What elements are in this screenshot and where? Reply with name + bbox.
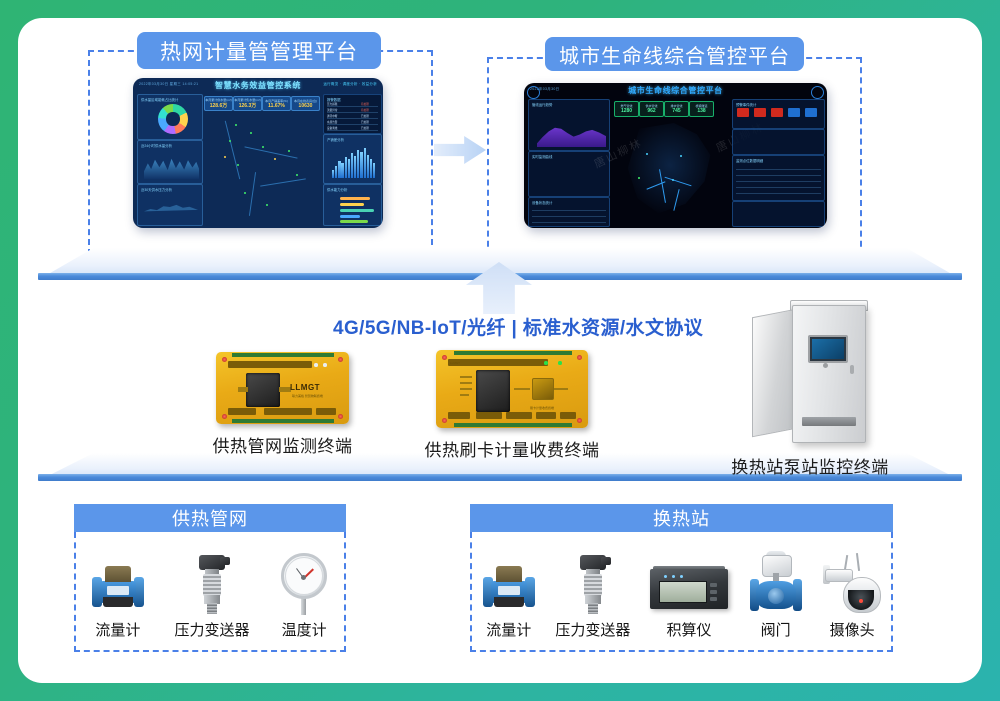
cabinet-hmi-screen	[808, 335, 848, 363]
kpi-value: 962	[647, 108, 655, 114]
dashboard-panel-detail-table: 监测点位数据明细	[732, 155, 825, 201]
device-label: 压力变送器	[555, 619, 630, 640]
kpi-tile: 桥梁隧道 138	[689, 101, 714, 117]
terminal-pipeline-monitor[interactable]: LLMGT 联力美格 智慧物联终端 供热管网监测终端	[195, 352, 370, 457]
panel-title: 近24小时供水量分析	[141, 143, 172, 148]
kpi-value: 138	[697, 108, 705, 114]
terminal-card-billing[interactable]: LLMGT 刷卡计量收费终端 供热刷卡计量收费终端	[412, 350, 612, 461]
kpi-value: 745	[672, 108, 680, 114]
alert-tile	[788, 108, 800, 117]
pressure-transmitter-icon	[192, 551, 232, 615]
device-label: 压力变送器	[174, 619, 249, 640]
kpi-value: 10630	[299, 103, 313, 109]
table-cell: 待处理	[361, 108, 369, 112]
group-title: 换热站	[470, 504, 893, 532]
kpi-value: 11.67%	[268, 103, 285, 109]
device-label: 温度计	[282, 619, 327, 640]
integrator-icon	[650, 551, 728, 615]
table-cell: 水质告警	[327, 120, 337, 124]
alert-tile	[737, 108, 749, 117]
kpi-value: 1280	[621, 108, 632, 114]
dashboard-panel-strip	[732, 129, 825, 155]
thermometer-gauge-icon	[279, 551, 329, 615]
flow-meter-icon	[91, 551, 145, 615]
kpi-tile: 本月累计供水量(m³) 128.6万	[204, 96, 233, 111]
panel-title: 供水能力分析	[327, 187, 347, 192]
device-camera[interactable]: 摄像头	[823, 551, 881, 640]
kpi-tile: 供水管线 962	[639, 101, 664, 117]
map-region	[622, 123, 718, 217]
platform-title-heat-network[interactable]: 热网计量管管理平台	[137, 32, 381, 69]
architecture-diagram: 热网计量管管理平台 城市生命线综合管控平台 智慧水务效益管控系统 2022年03…	[0, 0, 1000, 701]
device-brand: LLMGT	[450, 361, 460, 365]
line-series	[537, 166, 606, 189]
group-device-list: 流量计 压力变送器 温度计	[74, 532, 346, 652]
dashboard-city-lifeline[interactable]: 城市生命线综合管控平台 2022年03月30日 管线运行趋势 实时监测曲线 设备…	[524, 83, 827, 228]
kpi-tile: 本月累计售水量(m³) 126.3万	[233, 96, 262, 111]
table-cell: 压力超限	[327, 102, 337, 106]
device-valve[interactable]: 阀门	[748, 551, 804, 640]
dashboard-title: 智慧水务效益管控系统	[215, 80, 301, 91]
device-brand-sub: 刷卡计量收费终端	[530, 406, 554, 410]
kpi-value: 126.3万	[239, 102, 257, 109]
dashboard-panel-table: 设备状态统计	[528, 197, 610, 227]
kpi-tile: 燃气管线 1280	[614, 101, 639, 117]
dashboard-map	[616, 119, 726, 225]
dashboard-panel-donut: 供水量区域能耗占比统计	[137, 94, 203, 140]
dashboard-heat-network[interactable]: 智慧水务效益管控系统 2022年03月30日 星期三 14:05:21 运行概览…	[133, 78, 383, 228]
panel-title: 设备状态统计	[532, 200, 552, 205]
device-integrator[interactable]: 积算仪	[650, 551, 728, 640]
dashboard-header-nav: 运行概览 · 调度分析 · 效益分析	[323, 82, 377, 87]
table-cell: 设备离线	[327, 126, 337, 130]
alert-tile	[754, 108, 766, 117]
terminal-label: 供热刷卡计量收费终端	[412, 436, 612, 461]
panel-title: 预警事件统计	[736, 102, 756, 107]
dashboard-panel-footer	[732, 201, 825, 227]
cabinet-button	[823, 363, 828, 368]
table-cell: 通讯中断	[327, 114, 337, 118]
camera-icon	[823, 551, 881, 615]
device-label: 积算仪	[666, 619, 711, 640]
device-flow-meter[interactable]: 流量计	[482, 551, 536, 640]
terminal-station-cabinet[interactable]: 换热站泵站监控终端	[720, 305, 900, 478]
device-flow-meter[interactable]: 流量计	[91, 551, 145, 640]
kpi-tile: 本月产销差率(%) 11.67%	[262, 96, 291, 111]
kpi-tile: 排水管线 745	[664, 101, 689, 117]
alert-tile	[771, 108, 783, 117]
dashboard-panel-alarm-table: 报警数据 压力超限 待处理 流量异常 待处理 通讯中断 已处理 水质告警 已处理…	[323, 94, 382, 134]
cabinet-vent	[802, 417, 856, 426]
dashboard-panel-bar: 产销差分析	[323, 134, 382, 184]
line-series	[144, 201, 198, 214]
device-pressure-transmitter[interactable]: 压力变送器	[555, 551, 630, 640]
panel-title: 管线运行趋势	[532, 102, 552, 107]
pcb-card-reader-icon: LLMGT 刷卡计量收费终端	[436, 350, 588, 428]
card-slot	[532, 378, 554, 400]
table-cell: 已处理	[361, 114, 369, 118]
cabinet-open-door	[752, 309, 796, 438]
protocol-label: 4G/5G/NB-IoT/光纤 | 标准水资源/水文协议	[333, 313, 703, 340]
dashboard-panel-area: 近24小时供水量分析	[137, 140, 203, 184]
dashboard-title: 城市生命线综合管控平台	[628, 85, 723, 96]
panel-title: 产销差分析	[327, 137, 344, 142]
panel-title: 实时监测曲线	[532, 154, 552, 159]
kpi-value: 128.6万	[210, 102, 228, 109]
pcb-controller-icon: LLMGT 联力美格 智慧物联终端	[216, 352, 349, 424]
terminal-label: 供热管网监测终端	[195, 432, 370, 457]
valve-icon	[748, 551, 804, 615]
area-series	[144, 153, 199, 179]
hmi-display	[812, 339, 844, 359]
dashboard-panel-line: 近30天供水压力分析	[137, 184, 203, 226]
group-device-list: 流量计 压力变送器	[470, 532, 893, 652]
kpi-tile: 本月在线表具(台) 10630	[291, 96, 320, 111]
device-label: 流量计	[95, 619, 140, 640]
alert-tile	[805, 108, 817, 117]
metal-cabinet-icon	[752, 305, 868, 443]
dashboard-corner-dial	[811, 86, 824, 99]
table-cell: 待处理	[361, 102, 369, 106]
panel-title: 监测点位数据明细	[736, 158, 763, 163]
panel-title: 供水量区域能耗占比统计	[141, 97, 178, 102]
device-group-heat-exchange-station: 换热站 流量计 压力变	[470, 504, 893, 652]
device-pressure-transmitter[interactable]: 压力变送器	[174, 551, 249, 640]
platform-title-city-lifeline[interactable]: 城市生命线综合管控平台	[545, 37, 804, 71]
panel-title: 近30天供水压力分析	[141, 187, 172, 192]
dashboard-map	[204, 112, 320, 224]
table-cell: 已处理	[361, 126, 369, 130]
terminal-label: 换热站泵站监控终端	[720, 453, 900, 478]
flow-meter-icon	[482, 551, 536, 615]
device-brand: LLMGT	[290, 383, 320, 392]
dashboard-header: 城市生命线综合管控平台	[524, 83, 827, 97]
device-group-heat-pipeline: 供热管网 流量计 压力	[74, 504, 346, 652]
cabinet-lock	[850, 365, 854, 374]
dashboard-panel-alert-tiles: 预警事件统计	[732, 99, 825, 129]
dashboard-panel-area: 管线运行趋势	[528, 99, 610, 151]
device-label: 摄像头	[830, 619, 875, 640]
table-cell: 流量异常	[327, 108, 337, 112]
table-cell: 已处理	[361, 120, 369, 124]
device-label: 阀门	[761, 619, 791, 640]
dashboard-panel-line: 实时监测曲线	[528, 151, 610, 197]
group-title: 供热管网	[74, 504, 346, 532]
dashboard-corner-dial	[527, 86, 540, 99]
device-brand-sub: 联力美格 智慧物联终端	[292, 394, 323, 398]
dashboard-panel-progress: 供水能力分析	[323, 184, 382, 226]
dashboard-header-left-text: 2022年03月30日 星期三 14:05:21	[139, 82, 198, 87]
donut-chart	[158, 104, 188, 134]
device-label: 流量计	[486, 619, 531, 640]
bar-series	[332, 146, 377, 178]
pressure-transmitter-icon	[573, 551, 613, 615]
device-thermometer[interactable]: 温度计	[279, 551, 329, 640]
